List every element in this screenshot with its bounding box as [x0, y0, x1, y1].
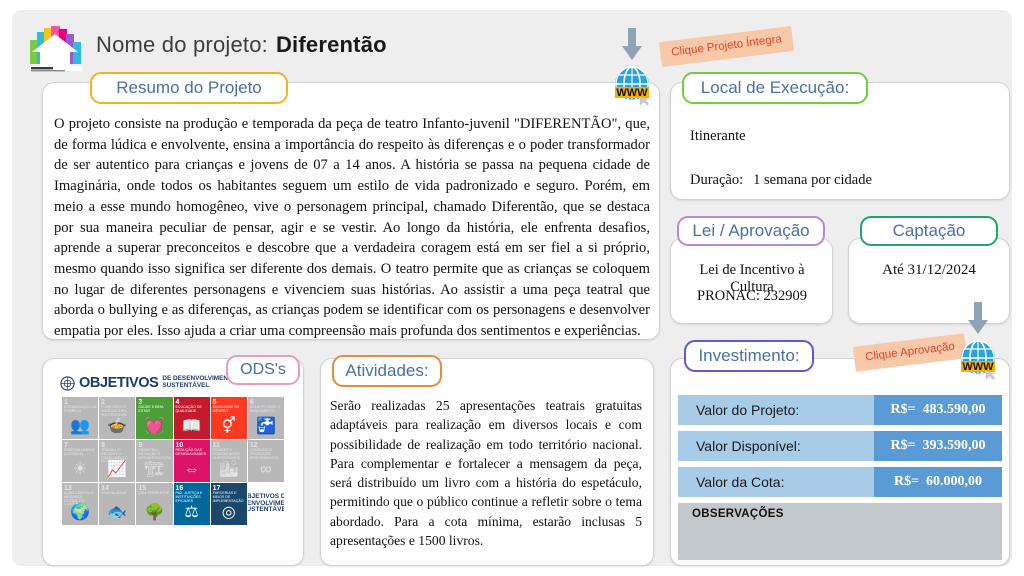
page-title: Nome do projeto:Diferentão: [96, 32, 387, 58]
globe-www-icon-integra[interactable]: WWW: [610, 62, 654, 106]
ods-goal-name: FOME ZERO E AGRICULTURA SUSTENTÁVEL: [101, 406, 133, 417]
duracao-value: 1 semana por cidade: [753, 172, 872, 188]
ods-goal-14: 14VIDA NA ÁGUA🐟: [99, 483, 135, 525]
ods-goal-name: PAZ, JUSTIÇA E INSTITUIÇÕES EFICAZES: [176, 492, 208, 503]
ods-footer-badge-text: OBJETIVOS DE DESENVOLVIMENTO SUSTENTÁVEL: [248, 494, 284, 514]
ods-goal-glyph: 🌍: [70, 505, 90, 521]
atividades-text: Serão realizadas 25 apresentações teatra…: [330, 396, 642, 550]
lei-aprovacao-label: Lei / Aprovação: [677, 216, 825, 246]
ods-goal-6: 6ÁGUA POTÁVEL E SANEAMENTO🚰: [248, 397, 284, 439]
captacao-label: Captação: [860, 216, 998, 246]
investimento-row-label: Valor do Projeto:: [678, 395, 874, 425]
investimento-row: Valor do Projeto:R$=483.590,00: [678, 395, 1002, 425]
ods-goal-11: 11CIDADES E COMUNIDADES SUSTENTÁVEIS🏙: [211, 440, 247, 482]
ods-goal-glyph: ◎: [222, 505, 236, 521]
ods-goal-name: ERRADICAÇÃO DA POBREZA: [64, 406, 96, 414]
duracao-row: Duração:1 semana por cidade: [690, 172, 872, 189]
investimento-row-label: Valor da Cota:: [678, 467, 874, 497]
duracao-label: Duração:: [690, 172, 743, 188]
local-execucao-label: Local de Execução:: [682, 72, 868, 104]
ods-heading-sub-bottom: SUSTENTÁVEL: [162, 383, 236, 390]
ods-goal-name: ENERGIA LIMPA E ACESSÍVEL: [64, 449, 96, 457]
amount: 483.590,00: [923, 402, 986, 418]
ods-goal-glyph: 👥: [70, 419, 90, 435]
amount: 60.000,00: [926, 474, 982, 490]
ods-goal-glyph: 🚰: [256, 419, 276, 435]
ods-footer-badge: OBJETIVOS DE DESENVOLVIMENTO SUSTENTÁVEL: [248, 483, 284, 525]
atividades-label: Atividades:: [332, 355, 442, 387]
callout-clique-projeto-integra[interactable]: Clique Projeto Íntegra: [659, 26, 794, 67]
observacoes-label: OBSERVAÇÕES: [692, 508, 784, 520]
resumo-text: O projeto consiste na produção e tempora…: [54, 114, 650, 342]
ods-goal-name: REDUÇÃO DAS DESIGUALDADES: [176, 449, 208, 457]
ods-goal-12: 12CONSUMO E PRODUÇÃO RESPONSÁVEIS∞: [248, 440, 284, 482]
ods-heading-sub: DE DESENVOLVIMENTO SUSTENTÁVEL: [162, 376, 236, 389]
ods-goal-glyph: 📖: [182, 419, 202, 435]
investimento-row: Valor da Cota:R$=60.000,00: [678, 467, 1002, 497]
ods-goal-2: 2FOME ZERO E AGRICULTURA SUSTENTÁVEL🍲: [99, 397, 135, 439]
ods-goal-17: 17PARCERIAS E MEIOS DE IMPLEMENTAÇÃO◎: [211, 483, 247, 525]
amount: 393.590,00: [923, 438, 986, 454]
ods-goal-name: VIDA NA ÁGUA: [101, 492, 133, 496]
ods-goal-16: 16PAZ, JUSTIÇA E INSTITUIÇÕES EFICAZES⚖: [174, 483, 210, 525]
observacoes-box: OBSERVAÇÕES: [678, 503, 1002, 560]
ods-goal-glyph: 🏗: [144, 462, 164, 478]
ods-goal-5: 5IGUALDADE DE GÊNERO⚥: [211, 397, 247, 439]
ods-goal-glyph: ⚖: [184, 505, 198, 521]
investimento-row: Valor Disponível:R$=393.590,00: [678, 431, 1002, 461]
ods-heading-main: OBJETIVOS: [79, 375, 158, 391]
svg-text:WWW: WWW: [962, 361, 994, 373]
ods-goal-glyph: 🍲: [107, 419, 127, 435]
ods-goal-name: VIDA TERRESTRE: [138, 492, 170, 496]
project-label: Nome do projeto:: [96, 32, 268, 57]
ods-goal-glyph: ⚥: [222, 419, 236, 435]
ods-goal-1: 1ERRADICAÇÃO DA POBREZA👥: [62, 397, 98, 439]
ods-goal-name: INDÚSTRIA, INOVAÇÃO E INFRAESTRUTURA: [138, 449, 170, 460]
ods-goal-name: PARCERIAS E MEIOS DE IMPLEMENTAÇÃO: [213, 492, 245, 503]
un-emblem-icon: [60, 376, 75, 391]
ods-goal-4: 4EDUCAÇÃO DE QUALIDADE📖: [174, 397, 210, 439]
ods-goal-glyph: ⇔: [184, 462, 200, 478]
ods-image: OBJETIVOS DE DESENVOLVIMENTO SUSTENTÁVEL…: [54, 370, 292, 554]
casa-logo: [26, 26, 88, 78]
ods-goal-9: 9INDÚSTRIA, INOVAÇÃO E INFRAESTRUTURA🏗: [136, 440, 172, 482]
ods-goal-13: 13AÇÃO CONTRA A MUDANÇA GLOBAL DO CLIMA🌍: [62, 483, 98, 525]
ods-goal-name: IGUALDADE DE GÊNERO: [213, 406, 245, 414]
ods-goal-glyph: ∞: [260, 462, 271, 478]
lei-pronac: PRONAC: 232909: [678, 288, 826, 305]
project-name: Diferentão: [276, 32, 387, 57]
ods-goal-name: ÁGUA POTÁVEL E SANEAMENTO: [250, 406, 282, 414]
ods-goal-8: 8TRABALHO DECENTE E CRESCIMENTO ECONÔMIC…: [99, 440, 135, 482]
ods-goal-name: SAÚDE E BEM-ESTAR: [138, 406, 170, 414]
ods-goal-name: CONSUMO E PRODUÇÃO RESPONSÁVEIS: [250, 449, 282, 460]
investimento-table: Valor do Projeto:R$=483.590,00Valor Disp…: [678, 395, 1002, 503]
ods-goal-name: CIDADES E COMUNIDADES SUSTENTÁVEIS: [213, 449, 245, 460]
ods-goal-glyph: 📈: [107, 462, 127, 478]
ods-goal-glyph: ☀: [73, 462, 87, 478]
ods-goal-10: 10REDUÇÃO DAS DESIGUALDADES⇔: [174, 440, 210, 482]
currency-symbol: R$=: [890, 438, 915, 454]
svg-text:WWW: WWW: [616, 87, 648, 99]
ods-goal-3: 3SAÚDE E BEM-ESTAR💓: [136, 397, 172, 439]
ods-goal-glyph: 🌳: [144, 505, 164, 521]
ods-goals-grid: 1ERRADICAÇÃO DA POBREZA👥2FOME ZERO E AGR…: [62, 397, 284, 525]
globe-www-icon-aprovacao[interactable]: WWW: [956, 336, 1000, 380]
ods-goal-7: 7ENERGIA LIMPA E ACESSÍVEL☀: [62, 440, 98, 482]
ods-goal-glyph: 💓: [144, 419, 164, 435]
ods-goal-glyph: 🐟: [107, 505, 127, 521]
ods-goal-glyph: 🏙: [219, 462, 239, 478]
currency-symbol: R$=: [894, 474, 919, 490]
local-execucao-value: Itinerante: [690, 128, 746, 145]
currency-symbol: R$=: [890, 402, 915, 418]
investimento-row-label: Valor Disponível:: [678, 431, 874, 461]
investimento-label: Investimento:: [684, 340, 814, 372]
resumo-label: Resumo do Projeto: [90, 72, 288, 104]
investimento-row-value: R$=60.000,00: [874, 467, 1002, 497]
slide-panel: Nome do projeto:Diferentão WWW Clique Pr…: [12, 10, 1012, 566]
ods-label: ODS's: [226, 355, 300, 385]
captacao-value: Até 31/12/2024: [852, 262, 1006, 279]
ods-goal-name: EDUCAÇÃO DE QUALIDADE: [176, 406, 208, 414]
ods-goal-15: 15VIDA TERRESTRE🌳: [136, 483, 172, 525]
investimento-row-value: R$=393.590,00: [874, 431, 1002, 461]
investimento-row-value: R$=483.590,00: [874, 395, 1002, 425]
